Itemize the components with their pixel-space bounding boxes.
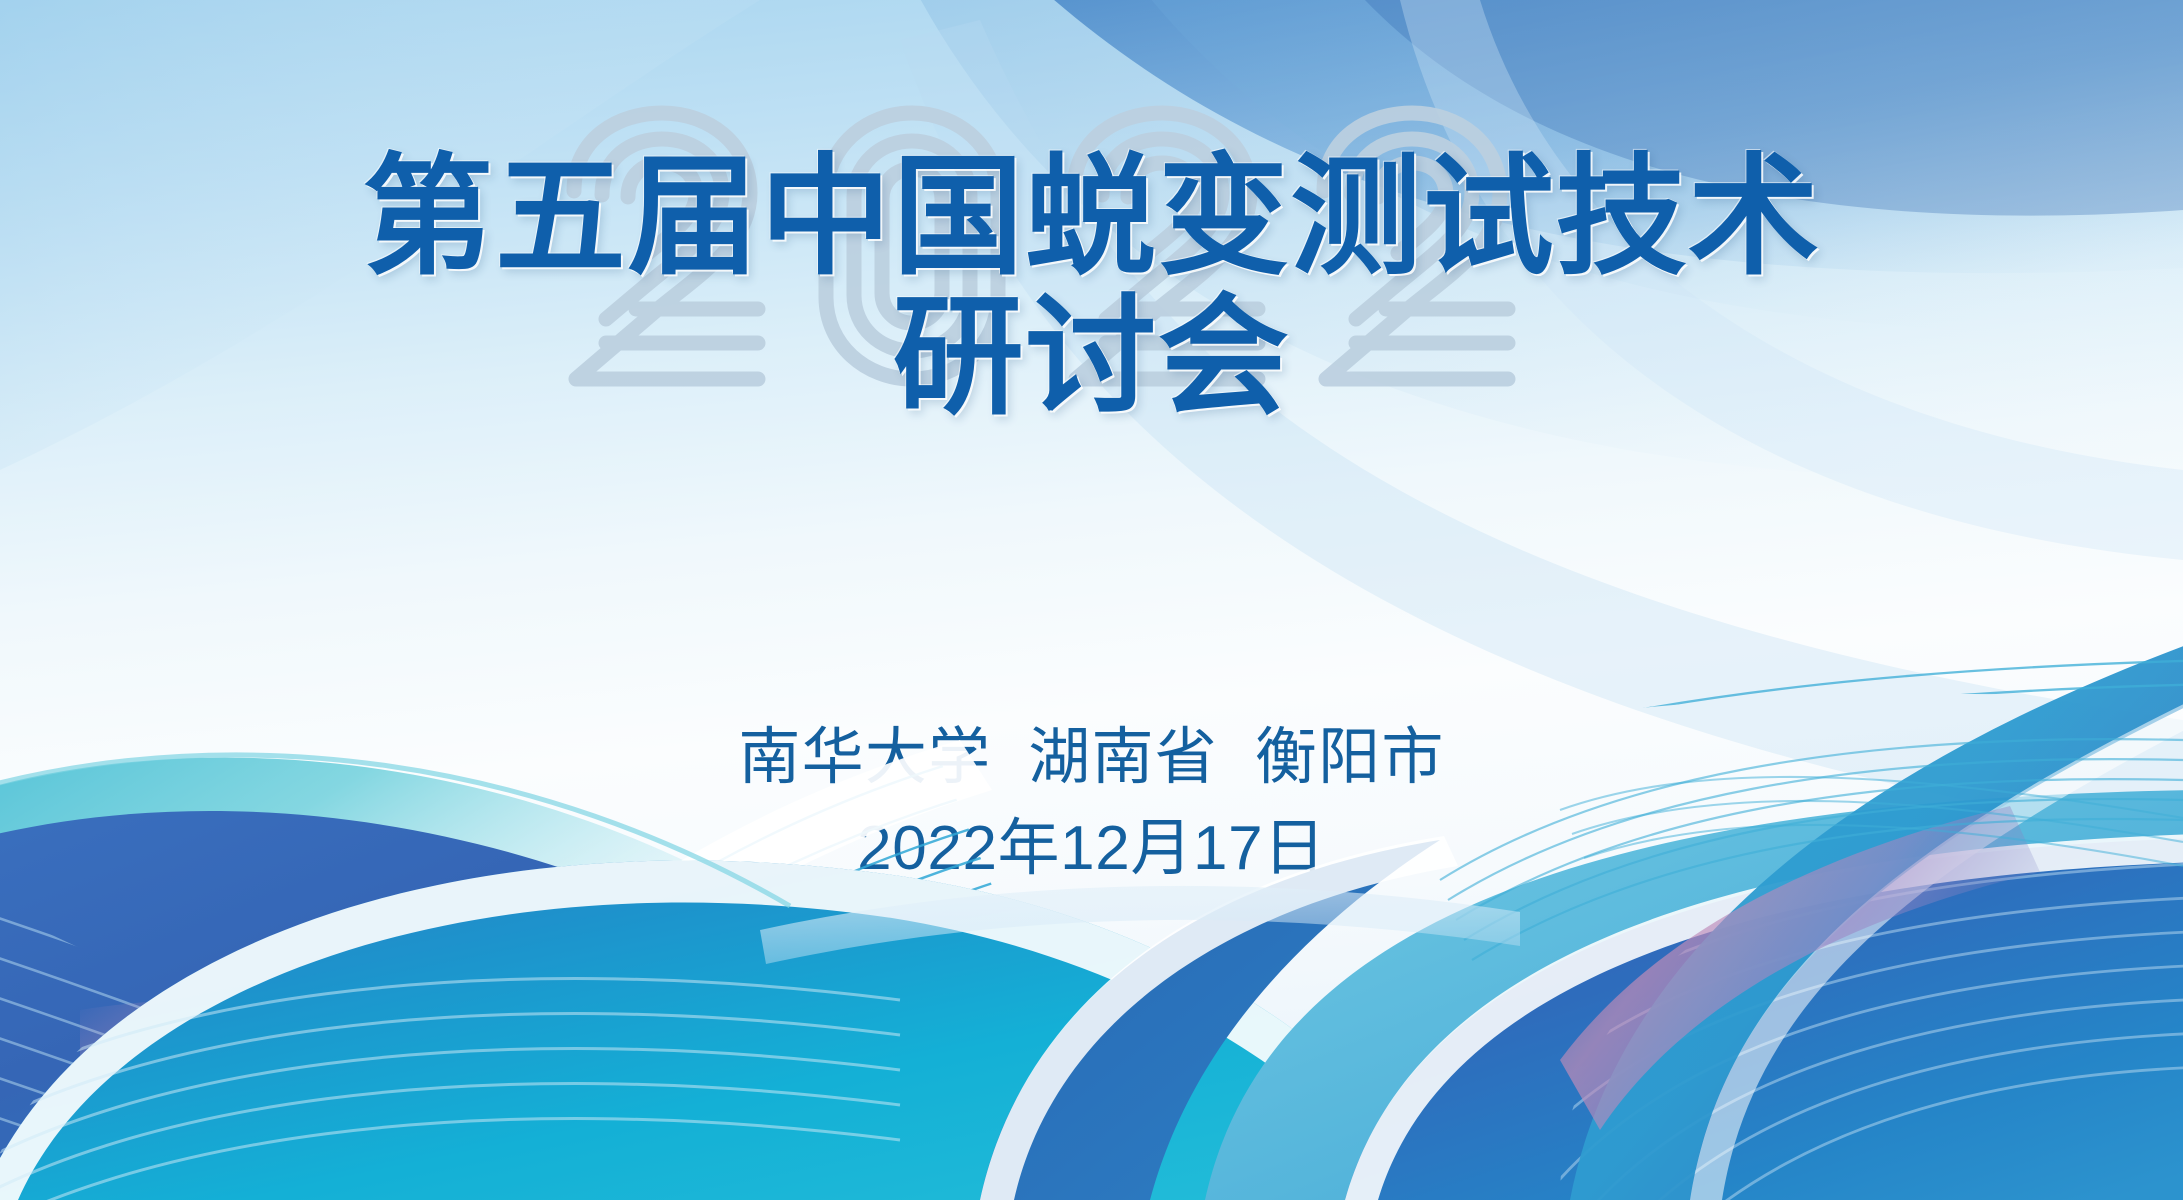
title-line-primary: 第五届中国蜕变测试技术 xyxy=(0,150,2183,284)
conference-banner: 第五届中国蜕变测试技术 研讨会 南华大学 湖南省 衡阳市 2022年12月17日 xyxy=(0,0,2183,1200)
poster-title: 第五届中国蜕变测试技术 研讨会 xyxy=(0,150,2183,423)
title-line-secondary: 研讨会 xyxy=(0,290,2183,424)
event-venue: 南华大学 湖南省 衡阳市 xyxy=(0,718,2183,797)
event-details: 南华大学 湖南省 衡阳市 2022年12月17日 xyxy=(0,718,2183,889)
event-date: 2022年12月17日 xyxy=(0,809,2183,888)
